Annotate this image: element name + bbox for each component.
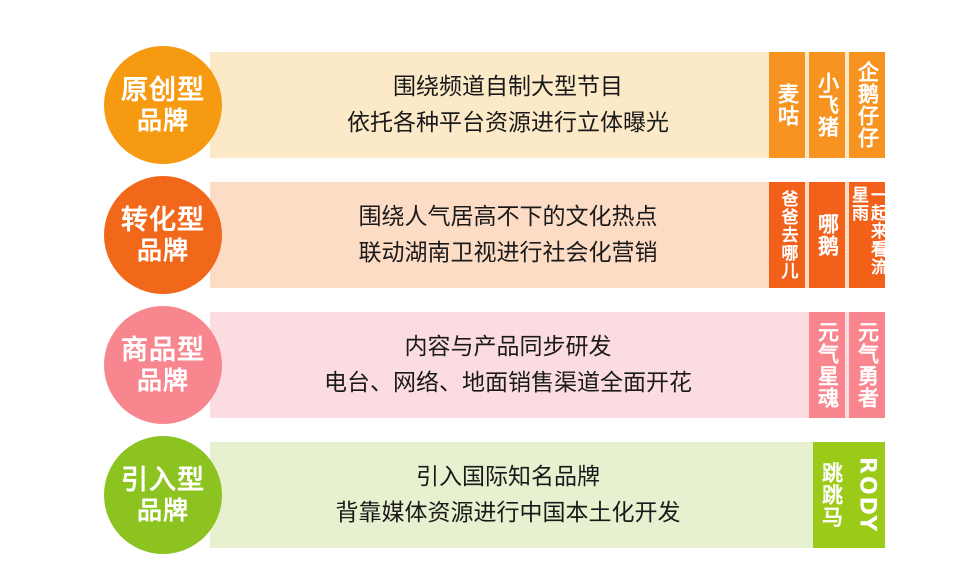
row-description: 围绕人气居高不下的文化热点 联动湖南卫视进行社会化营销 (238, 182, 778, 288)
brand-tag-label: 小飞猪 (816, 72, 839, 138)
brand-tag[interactable]: 麦咕 (769, 52, 805, 158)
brand-tag-label: 跳跳马 (820, 462, 843, 528)
badge-subtitle: 品牌 (137, 366, 189, 395)
description-line-2: 联动湖南卫视进行社会化营销 (359, 235, 658, 271)
badge-title: 原创型 (121, 75, 205, 106)
row-description: 引入国际知名品牌 背靠媒体资源进行中国本土化开发 (238, 442, 778, 548)
brand-tag[interactable]: 一起来看流星雨 (849, 182, 885, 288)
row-tag-list: 跳跳马 RODY (813, 442, 885, 548)
row-tag-list: 元气星魂 元气勇者 (809, 312, 885, 418)
row-tag-list: 麦咕 小飞猪 企鹅仔仔 (769, 52, 885, 158)
brand-type-diagram: 麦咕 小飞猪 企鹅仔仔 围绕频道自制大型节目 依托各种平台资源进行立体曝光 原创… (0, 0, 960, 576)
brand-tag-label: 企鹅仔仔 (856, 61, 879, 149)
description-line-1: 围绕频道自制大型节目 (393, 69, 623, 105)
brand-tag-label: 元气星魂 (816, 321, 839, 409)
badge-subtitle: 品牌 (137, 106, 189, 135)
brand-tag[interactable]: 跳跳马 RODY (813, 442, 885, 548)
description-line-2: 依托各种平台资源进行立体曝光 (347, 105, 669, 141)
category-badge-original[interactable]: 原创型 品牌 (104, 46, 222, 164)
brand-tag-label: 麦咕 (776, 83, 799, 127)
brand-tag[interactable]: 小飞猪 (809, 52, 845, 158)
category-badge-merchandise[interactable]: 商品型 品牌 (104, 306, 222, 424)
brand-tag-label: 哪鹅 (816, 213, 839, 257)
brand-tag[interactable]: 企鹅仔仔 (849, 52, 885, 158)
description-line-1: 围绕人气居高不下的文化热点 (359, 199, 658, 235)
brand-tag[interactable]: 元气勇者 (849, 312, 885, 418)
brand-tag[interactable]: 哪鹅 (809, 182, 845, 288)
description-line-2: 背靠媒体资源进行中国本土化开发 (336, 495, 681, 531)
badge-title: 引入型 (121, 465, 205, 496)
brand-tag-cn: 跳跳马 (813, 442, 849, 548)
category-badge-conversion[interactable]: 转化型 品牌 (104, 176, 222, 294)
badge-subtitle: 品牌 (137, 496, 189, 525)
row-description: 内容与产品同步研发 电台、网络、地面销售渠道全面开花 (238, 312, 778, 418)
diagram-row-conversion: 爸爸去哪儿 哪鹅 一起来看流星雨 围绕人气居高不下的文化热点 联动湖南卫视进行社… (0, 182, 960, 288)
description-line-1: 内容与产品同步研发 (405, 329, 612, 365)
category-badge-import[interactable]: 引入型 品牌 (104, 436, 222, 554)
badge-title: 转化型 (121, 205, 205, 236)
description-line-1: 引入国际知名品牌 (416, 459, 600, 495)
brand-tag-latin: RODY (849, 442, 885, 548)
diagram-row-merchandise: 元气星魂 元气勇者 内容与产品同步研发 电台、网络、地面销售渠道全面开花 商品型… (0, 312, 960, 418)
brand-tag-label: 一起来看流星雨 (848, 186, 886, 284)
description-line-2: 电台、网络、地面销售渠道全面开花 (324, 365, 692, 401)
diagram-row-import: 跳跳马 RODY 引入国际知名品牌 背靠媒体资源进行中国本土化开发 引入型 品牌 (0, 442, 960, 548)
brand-tag-label: 元气勇者 (856, 321, 879, 409)
row-tag-list: 爸爸去哪儿 哪鹅 一起来看流星雨 (769, 182, 885, 288)
brand-tag[interactable]: 元气星魂 (809, 312, 845, 418)
row-description: 围绕频道自制大型节目 依托各种平台资源进行立体曝光 (238, 52, 778, 158)
badge-subtitle: 品牌 (137, 236, 189, 265)
brand-tag-label: RODY (856, 457, 879, 533)
brand-tag-label: 爸爸去哪儿 (778, 190, 797, 280)
diagram-row-original: 麦咕 小飞猪 企鹅仔仔 围绕频道自制大型节目 依托各种平台资源进行立体曝光 原创… (0, 52, 960, 158)
brand-tag[interactable]: 爸爸去哪儿 (769, 182, 805, 288)
badge-title: 商品型 (121, 335, 205, 366)
